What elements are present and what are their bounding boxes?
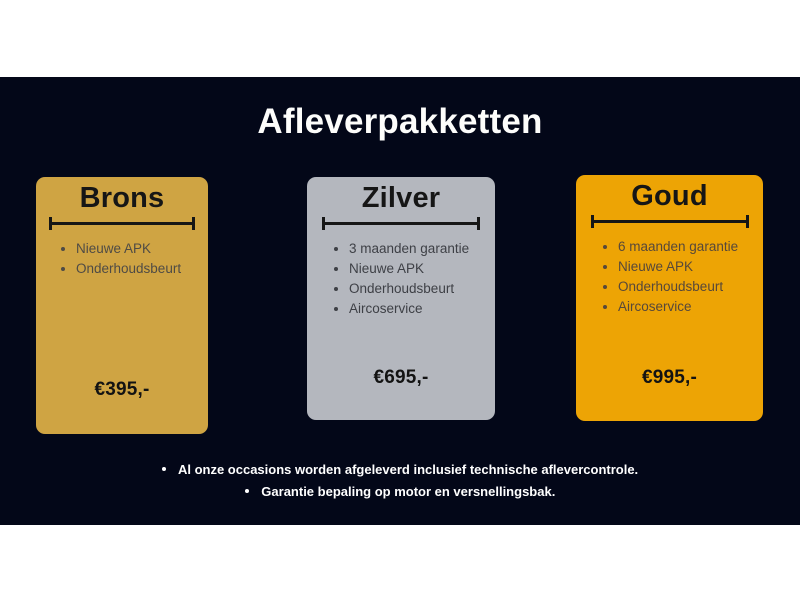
feature-label: Onderhoudsbeurt [618, 279, 723, 294]
package-card-goud[interactable]: Goud 6 maanden garantie Nieuwe APK [576, 175, 763, 421]
bullet-dot-icon [603, 265, 607, 269]
divider-end-cap-right-icon [746, 215, 749, 228]
package-price-goud: €995,- [576, 367, 763, 389]
title-divider-rule-zilver [322, 217, 480, 229]
feature-list-goud: 6 maanden garantie Nieuwe APK Onderhouds… [602, 237, 755, 317]
package-card-brons[interactable]: Brons Nieuwe APK Onderhoudsbeurt €395,- [36, 177, 208, 434]
bullet-dot-icon [603, 305, 607, 309]
package-title-zilver: Zilver [307, 183, 495, 215]
divider-bar [49, 222, 195, 225]
bullet-dot-icon [603, 285, 607, 289]
feature-label: Aircoservice [349, 301, 423, 316]
package-header-goud: Goud [576, 181, 763, 227]
title-divider-rule-goud [591, 215, 749, 227]
list-item: Aircoservice [602, 297, 755, 317]
bullet-dot-icon [334, 287, 338, 291]
bullet-dot-icon [334, 267, 338, 271]
package-header-brons: Brons [36, 183, 208, 229]
feature-label: Nieuwe APK [618, 259, 693, 274]
bullet-dot-icon [61, 247, 65, 251]
feature-label: Nieuwe APK [349, 261, 424, 276]
bullet-dot-icon [61, 267, 65, 271]
feature-label: 3 maanden garantie [349, 241, 469, 256]
package-price-zilver: €695,- [307, 367, 495, 389]
package-title-brons: Brons [36, 183, 208, 215]
slide-canvas: Afleverpakketten Brons Nieuwe APK Onderh [0, 0, 800, 600]
package-header-zilver: Zilver [307, 183, 495, 229]
feature-label: 6 maanden garantie [618, 239, 738, 254]
list-item: Onderhoudsbeurt [602, 277, 755, 297]
list-item: Onderhoudsbeurt [60, 259, 200, 279]
list-item: Aircoservice [333, 299, 487, 319]
feature-list-zilver: 3 maanden garantie Nieuwe APK Onderhouds… [333, 239, 487, 319]
divider-bar [322, 222, 480, 225]
list-item: Nieuwe APK [602, 257, 755, 277]
footer-notes: Al onze occasions worden afgeleverd incl… [0, 459, 800, 503]
title-divider-rule-brons [49, 217, 195, 229]
page-title: Afleverpakketten [0, 102, 800, 142]
bullet-dot-icon [245, 489, 249, 493]
list-item: Al onze occasions worden afgeleverd incl… [0, 459, 800, 481]
divider-bar [591, 220, 749, 223]
list-item: Nieuwe APK [60, 239, 200, 259]
list-item: 3 maanden garantie [333, 239, 487, 259]
divider-end-cap-right-icon [192, 217, 195, 230]
bullet-dot-icon [334, 247, 338, 251]
feature-label: Aircoservice [618, 299, 692, 314]
bullet-dot-icon [334, 307, 338, 311]
package-card-zilver[interactable]: Zilver 3 maanden garantie Nieuwe APK [307, 177, 495, 420]
list-item: 6 maanden garantie [602, 237, 755, 257]
feature-label: Onderhoudsbeurt [349, 281, 454, 296]
footer-note-text: Al onze occasions worden afgeleverd incl… [178, 462, 638, 477]
bullet-dot-icon [603, 245, 607, 249]
package-title-goud: Goud [576, 181, 763, 213]
list-item: Onderhoudsbeurt [333, 279, 487, 299]
list-item: Nieuwe APK [333, 259, 487, 279]
feature-list-brons: Nieuwe APK Onderhoudsbeurt [60, 239, 200, 279]
feature-label: Nieuwe APK [76, 241, 151, 256]
divider-end-cap-right-icon [477, 217, 480, 230]
footer-note-text: Garantie bepaling op motor en versnellin… [261, 484, 555, 499]
package-price-brons: €395,- [36, 379, 208, 401]
slide-body: Afleverpakketten Brons Nieuwe APK Onderh [0, 77, 800, 525]
list-item: Garantie bepaling op motor en versnellin… [0, 481, 800, 503]
bullet-dot-icon [162, 467, 166, 471]
feature-label: Onderhoudsbeurt [76, 261, 181, 276]
